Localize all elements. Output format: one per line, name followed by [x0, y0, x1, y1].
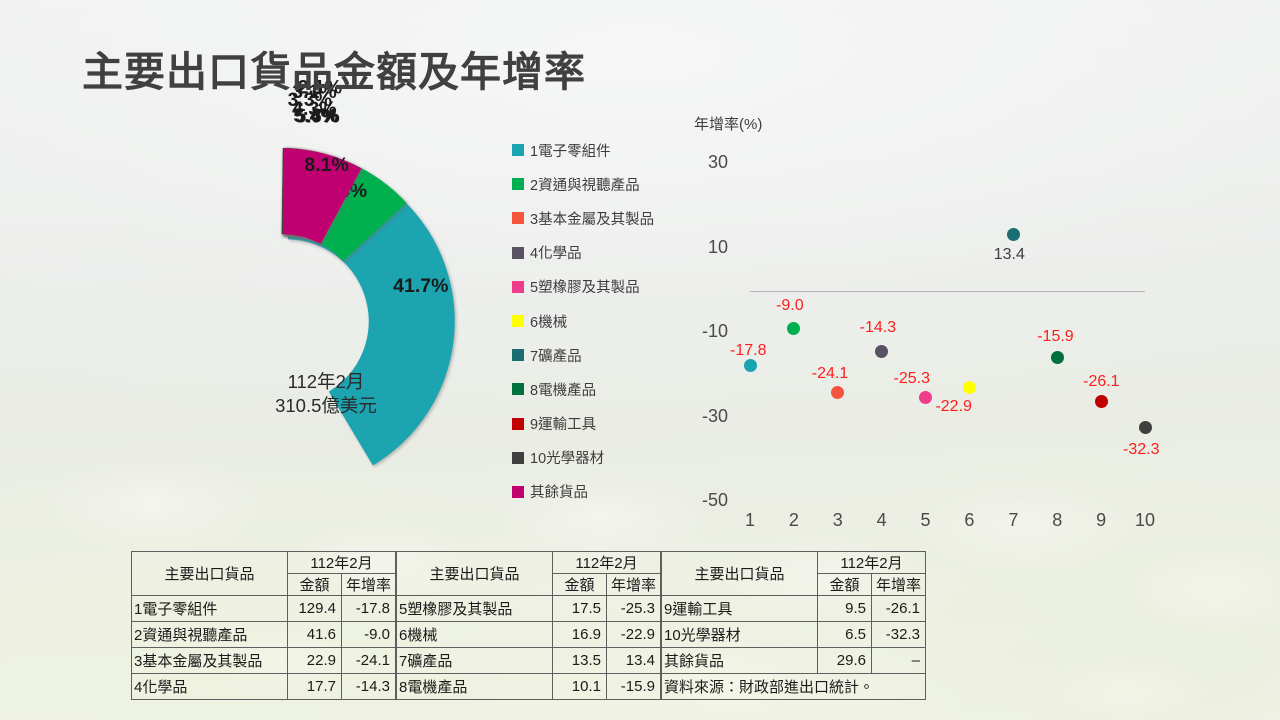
table-block-1: 主要出口貨品112年2月金額年增率1電子零組件129.4-17.82資通與視聽產…	[131, 551, 396, 700]
donut-chart: 41.7%13.4%7.4%5.7%5.6%5.4%4.3%3.3%3.1%2.…	[60, 108, 500, 538]
table-header-growth: 年增率	[872, 574, 926, 596]
table-cell-amount: 41.6	[288, 622, 342, 648]
table-header-amount: 金額	[288, 574, 342, 596]
table-cell-name: 10光學器材	[662, 622, 818, 648]
legend-item-label: 9運輸工具	[530, 413, 596, 434]
table-block-3: 主要出口貨品112年2月金額年增率9運輸工具9.5-26.110光學器材6.5-…	[661, 551, 926, 700]
table-header-name: 主要出口貨品	[397, 552, 553, 596]
scatter-y-tick: 10	[682, 237, 728, 258]
table-cell-amount: 17.7	[288, 674, 342, 700]
table-cell-name: 6機械	[397, 622, 553, 648]
donut-center-period: 112年2月	[256, 370, 396, 394]
table-header-period: 112年2月	[818, 552, 926, 574]
scatter-point[interactable]	[875, 345, 888, 358]
page-title: 主要出口貨品金額及年增率	[82, 38, 586, 98]
legend-item-label: 4化學品	[530, 242, 582, 263]
table-cell-growth: -32.3	[872, 622, 926, 648]
table-cell-amount: 129.4	[288, 596, 342, 622]
legend-item[interactable]: 3基本金屬及其製品	[512, 201, 692, 235]
legend-item[interactable]: 6機械	[512, 304, 692, 338]
table-cell-name: 4化學品	[132, 674, 288, 700]
scatter-point-label: -32.3	[1123, 441, 1159, 459]
table-row: 8電機產品10.1-15.9	[397, 674, 661, 700]
legend-color-swatch	[512, 144, 524, 156]
table-cell-name: 7礦產品	[397, 648, 553, 674]
table-header-name: 主要出口貨品	[132, 552, 288, 596]
table-header-amount: 金額	[818, 574, 872, 596]
legend-color-swatch	[512, 418, 524, 430]
table-cell-amount: 9.5	[818, 596, 872, 622]
table-header-period: 112年2月	[553, 552, 661, 574]
table-row: 1電子零組件129.4-17.8	[132, 596, 396, 622]
legend-item[interactable]: 10光學器材	[512, 441, 692, 475]
table-row: 4化學品17.7-14.3	[132, 674, 396, 700]
scatter-point-label: -25.3	[894, 370, 930, 388]
table-cell-amount: 13.5	[553, 648, 607, 674]
scatter-point[interactable]	[787, 322, 800, 335]
table-cell-growth: -14.3	[342, 674, 396, 700]
scatter-point-label: 13.4	[991, 246, 1027, 264]
table-row: 5塑橡膠及其製品17.5-25.3	[397, 596, 661, 622]
table-cell-amount: 17.5	[553, 596, 607, 622]
table-row: 7礦產品13.513.4	[397, 648, 661, 674]
scatter-point[interactable]	[1095, 395, 1108, 408]
scatter-point[interactable]	[831, 386, 844, 399]
scatter-y-tick: -50	[682, 490, 728, 511]
scatter-point[interactable]	[1051, 351, 1064, 364]
scatter-point[interactable]	[1139, 421, 1152, 434]
table-cell-amount: 22.9	[288, 648, 342, 674]
table-header-amount: 金額	[553, 574, 607, 596]
legend-color-swatch	[512, 212, 524, 224]
legend-color-swatch	[512, 178, 524, 190]
scatter-x-tick: 5	[909, 510, 943, 531]
legend-item-label: 1電子零組件	[530, 140, 611, 161]
scatter-x-tick: 7	[996, 510, 1030, 531]
table-row: 3基本金屬及其製品22.9-24.1	[132, 648, 396, 674]
donut-center-value: 310.5億美元	[256, 394, 396, 418]
table-block-2: 主要出口貨品112年2月金額年增率5塑橡膠及其製品17.5-25.36機械16.…	[396, 551, 661, 700]
donut-slice-label: 8.1%	[304, 154, 348, 176]
scatter-x-tick: 3	[821, 510, 855, 531]
scatter-y-tick: -30	[682, 406, 728, 427]
table-cell-amount: 6.5	[818, 622, 872, 648]
legend-item-label: 6機械	[530, 311, 567, 332]
table-cell-name: 1電子零組件	[132, 596, 288, 622]
scatter-point-label: -24.1	[812, 365, 848, 383]
table-cell-name: 8電機產品	[397, 674, 553, 700]
scatter-zero-line	[750, 291, 1145, 292]
scatter-x-tick: 4	[865, 510, 899, 531]
table-header-growth: 年增率	[607, 574, 661, 596]
scatter-y-axis-title: 年增率(%)	[694, 113, 762, 134]
scatter-x-tick: 2	[777, 510, 811, 531]
table-cell-name: 5塑橡膠及其製品	[397, 596, 553, 622]
table-cell-growth: -9.0	[342, 622, 396, 648]
table-cell-growth: -25.3	[607, 596, 661, 622]
legend-color-swatch	[512, 452, 524, 464]
data-tables: 主要出口貨品112年2月金額年增率1電子零組件129.4-17.82資通與視聽產…	[131, 551, 926, 700]
table-cell-name: 其餘貨品	[662, 648, 818, 674]
table-row: 6機械16.9-22.9	[397, 622, 661, 648]
legend-item-label: 其餘貨品	[530, 481, 588, 502]
table-cell-amount: 16.9	[553, 622, 607, 648]
legend-color-swatch	[512, 247, 524, 259]
donut-center-label: 112年2月 310.5億美元	[256, 370, 396, 419]
table-cell-growth: -22.9	[607, 622, 661, 648]
legend-item[interactable]: 4化學品	[512, 236, 692, 270]
table-cell-growth: 13.4	[607, 648, 661, 674]
legend-item-label: 2資通與視聽產品	[530, 174, 640, 195]
legend-item[interactable]: 8電機產品	[512, 372, 692, 406]
table-row: 其餘貨品29.6–	[662, 648, 926, 674]
table-row: 2資通與視聽產品41.6-9.0	[132, 622, 396, 648]
legend-item[interactable]: 其餘貨品	[512, 475, 692, 509]
table-row: 9運輸工具9.5-26.1	[662, 596, 926, 622]
legend-item-label: 7礦產品	[530, 345, 582, 366]
table-cell-amount: 10.1	[553, 674, 607, 700]
donut-slice-label: 41.7%	[393, 275, 448, 297]
scatter-point-label: -17.8	[730, 342, 766, 360]
table-cell-name: 3基本金屬及其製品	[132, 648, 288, 674]
scatter-x-tick: 8	[1040, 510, 1074, 531]
legend-color-swatch	[512, 281, 524, 293]
table-cell-name: 9運輸工具	[662, 596, 818, 622]
table-cell-name: 2資通與視聽產品	[132, 622, 288, 648]
legend-item[interactable]: 2資通與視聽產品	[512, 167, 692, 201]
scatter-point[interactable]	[963, 381, 976, 394]
chart-legend: 1電子零組件2資通與視聽產品3基本金屬及其製品4化學品5塑橡膠及其製品6機械7礦…	[512, 133, 692, 509]
scatter-point[interactable]	[1007, 228, 1020, 241]
legend-item-label: 3基本金屬及其製品	[530, 208, 654, 229]
scatter-x-tick: 1	[733, 510, 767, 531]
legend-color-swatch	[512, 349, 524, 361]
legend-color-swatch	[512, 315, 524, 327]
table-source-row: 資料來源：財政部進出口統計。	[662, 674, 926, 700]
table-header-name: 主要出口貨品	[662, 552, 818, 596]
table-row: 10光學器材6.5-32.3	[662, 622, 926, 648]
table-cell-growth: -17.8	[342, 596, 396, 622]
legend-item-label: 5塑橡膠及其製品	[530, 276, 640, 297]
scatter-y-tick: 30	[682, 152, 728, 173]
scatter-x-tick: 10	[1128, 510, 1162, 531]
scatter-y-tick: -10	[682, 321, 728, 342]
legend-item-label: 8電機產品	[530, 379, 596, 400]
legend-item[interactable]: 1電子零組件	[512, 133, 692, 167]
scatter-point[interactable]	[919, 391, 932, 404]
scatter-point-label: -15.9	[1037, 328, 1073, 346]
scatter-x-tick: 9	[1084, 510, 1118, 531]
donut-svg: 41.7%13.4%7.4%5.7%5.6%5.4%4.3%3.3%3.1%2.…	[60, 108, 500, 538]
table-header-period: 112年2月	[288, 552, 396, 574]
table-cell-growth: –	[872, 648, 926, 674]
legend-color-swatch	[512, 383, 524, 395]
table-cell-growth: -24.1	[342, 648, 396, 674]
table-cell-growth: -15.9	[607, 674, 661, 700]
table-cell-amount: 29.6	[818, 648, 872, 674]
scatter-chart: 年增率(%) 3010-10-30-5012345678910-17.8-9.0…	[680, 108, 1180, 540]
scatter-point-label: -9.0	[772, 297, 808, 315]
table-cell-growth: -26.1	[872, 596, 926, 622]
scatter-point-label: -14.3	[860, 319, 896, 337]
legend-item-label: 10光學器材	[530, 447, 604, 468]
legend-color-swatch	[512, 486, 524, 498]
legend-item[interactable]: 9運輸工具	[512, 407, 692, 441]
legend-item[interactable]: 5塑橡膠及其製品	[512, 270, 692, 304]
scatter-point-label: -26.1	[1083, 373, 1119, 391]
scatter-x-tick: 6	[952, 510, 986, 531]
scatter-point[interactable]	[744, 359, 757, 372]
table-header-growth: 年增率	[342, 574, 396, 596]
legend-item[interactable]: 7礦產品	[512, 338, 692, 372]
table-source: 資料來源：財政部進出口統計。	[662, 674, 926, 700]
scatter-point-label: -22.9	[935, 398, 971, 416]
